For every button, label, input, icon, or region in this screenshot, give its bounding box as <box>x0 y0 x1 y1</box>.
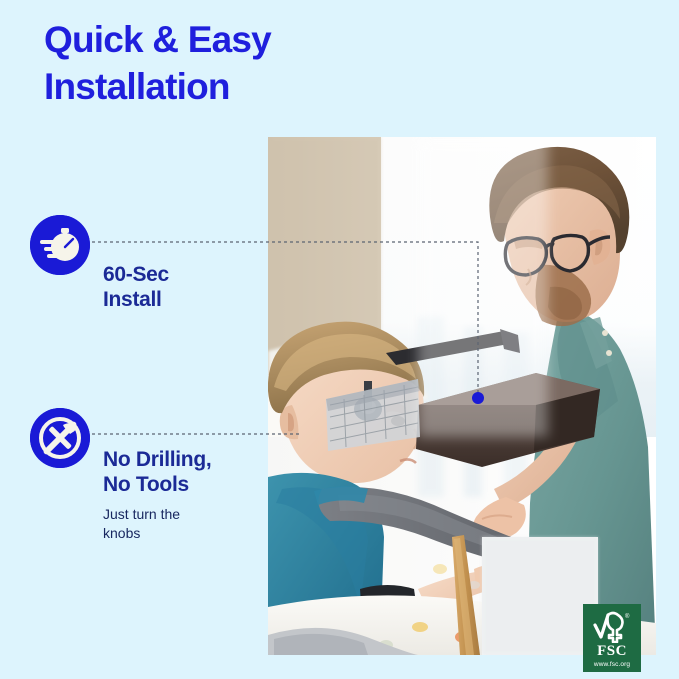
feature-1-text: 60-Sec Install <box>103 262 273 312</box>
page-title: Quick & Easy Installation <box>44 16 344 110</box>
feature-2-heading: No Drilling, No Tools <box>103 447 273 497</box>
stopwatch-icon <box>30 215 90 275</box>
fsc-tree-checkmark-icon: ® <box>592 609 632 643</box>
fsc-name: FSC <box>583 644 641 659</box>
fsc-logo: ® FSC www.fsc.org <box>583 604 641 672</box>
no-tools-icon <box>30 408 90 468</box>
feature-2-text: No Drilling, No Tools Just turn the knob… <box>103 447 273 543</box>
promo-graphic: Quick & Easy Installation <box>0 0 679 679</box>
product-photo <box>268 137 656 655</box>
fsc-url: www.fsc.org <box>583 660 641 669</box>
svg-text:®: ® <box>625 613 630 620</box>
feature-1-heading: 60-Sec Install <box>103 262 273 312</box>
feature-2-subtext: Just turn the knobs <box>103 505 273 543</box>
